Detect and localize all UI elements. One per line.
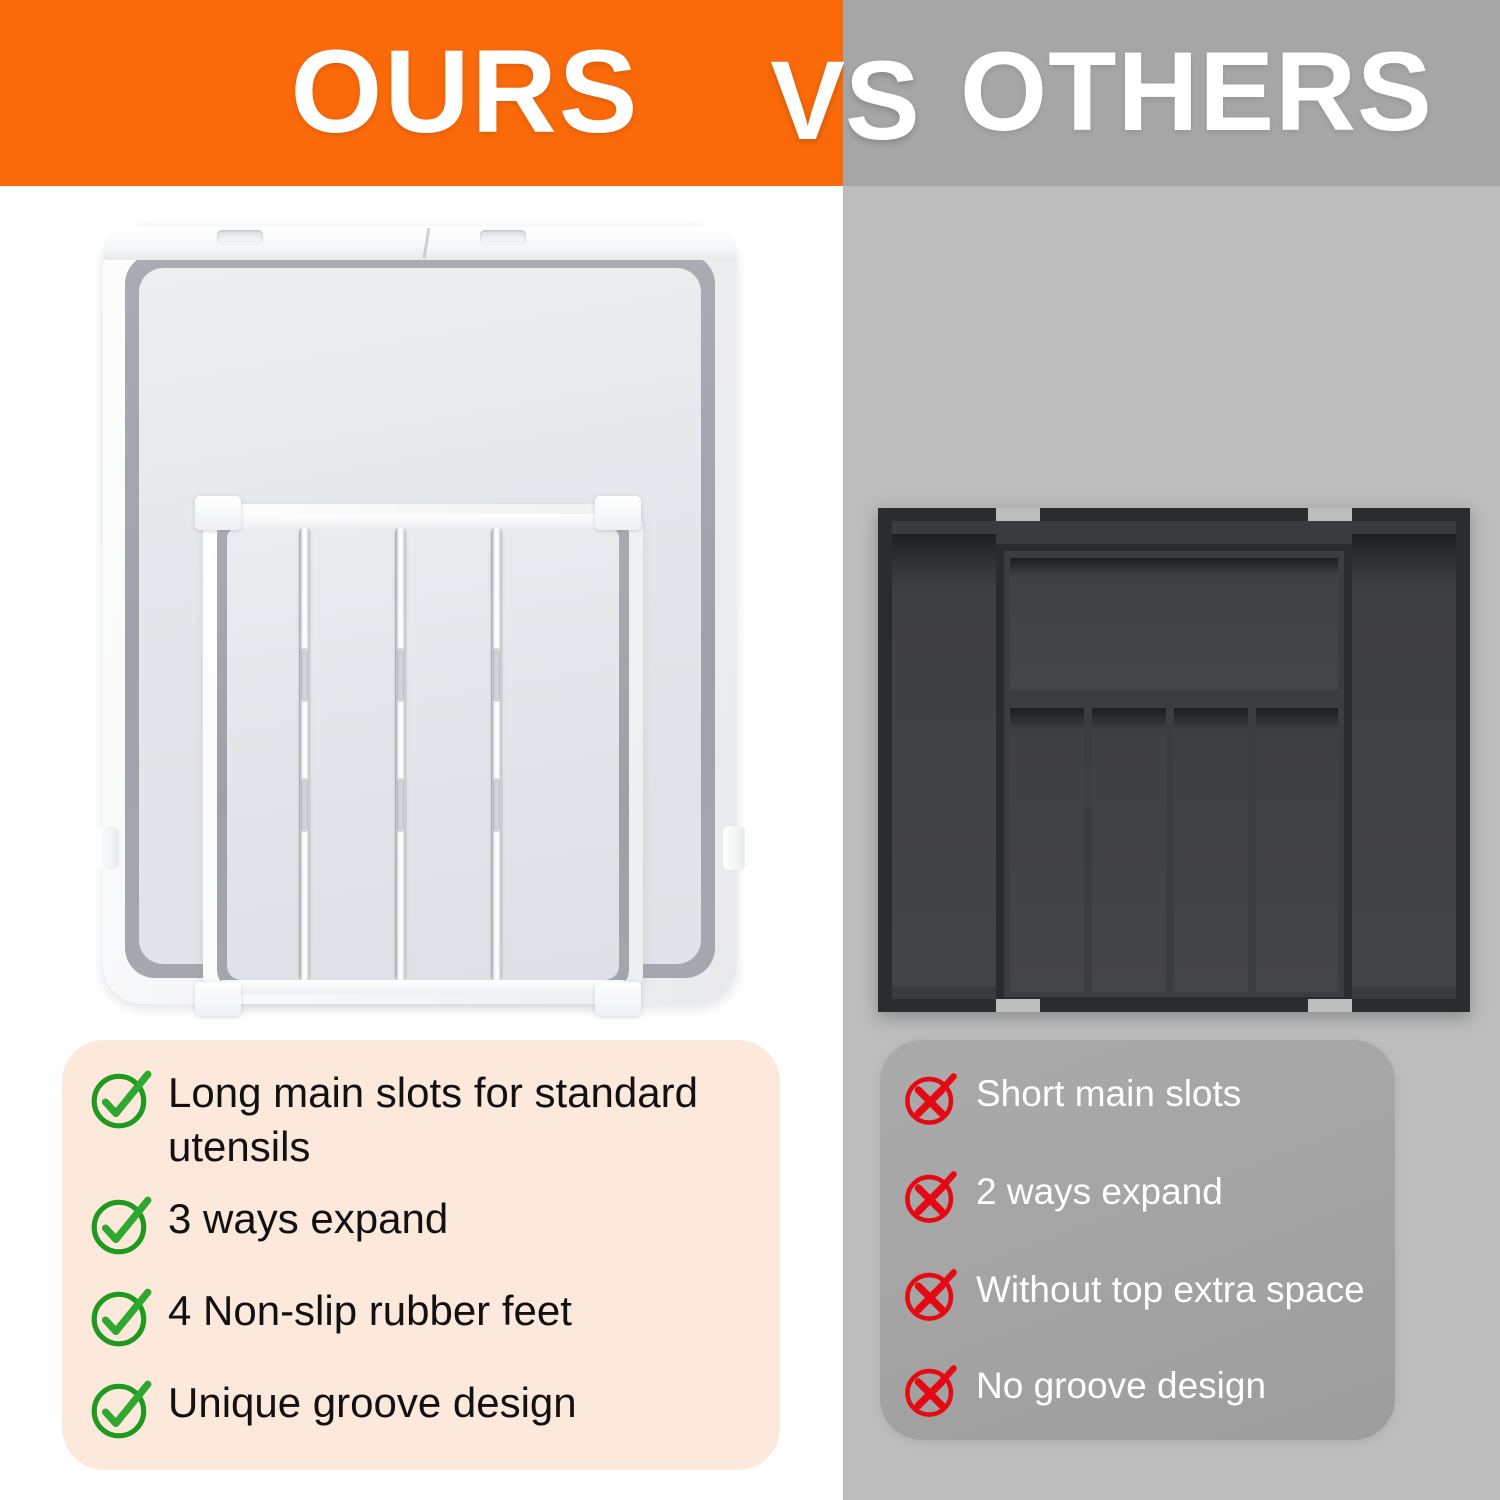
header-vs-label: VS [770, 26, 920, 176]
header-ours-title: OURS [255, 22, 675, 162]
black-slot-compartment [1256, 708, 1338, 992]
green-check-icon [88, 1284, 154, 1350]
inner-tray-bottom-rail [217, 980, 629, 994]
black-tray-notch [996, 508, 1040, 521]
others-feature-item: No groove design [902, 1362, 1382, 1420]
ours-feature-label: Long main slots for standard utensils [154, 1066, 764, 1174]
ours-feature-item: 3 ways expand [88, 1192, 764, 1258]
divider-groove-dimple [301, 778, 308, 832]
organizer-connector-tab [595, 496, 641, 530]
ours-feature-card: Long main slots for standard utensils 3 … [62, 1040, 780, 1470]
organizer-connector-tab [195, 982, 241, 1016]
red-cross-icon [902, 1362, 960, 1420]
red-cross-icon [902, 1266, 960, 1324]
black-drawer-organizer-image [878, 508, 1470, 1012]
organizer-inner-slide-tray [203, 504, 643, 1004]
inner-tray-divider-wall [395, 528, 406, 980]
inner-tray-divider-wall [299, 528, 310, 980]
black-slot-compartment [1092, 708, 1166, 992]
divider-groove-dimple [493, 778, 500, 832]
black-slot-compartment [1174, 708, 1248, 992]
black-top-compartment [1010, 558, 1338, 690]
black-right-side-well [1352, 534, 1456, 986]
divider-groove-dimple [301, 648, 308, 702]
header-others-title: OTHERS [960, 22, 1420, 162]
organizer-side-foot [97, 826, 119, 870]
black-slot-compartment [1010, 708, 1084, 992]
red-cross-icon [902, 1070, 960, 1128]
organizer-groove-notch [480, 230, 526, 245]
ours-feature-item: 4 Non-slip rubber feet [88, 1284, 764, 1350]
black-tray-notch [1308, 999, 1352, 1012]
others-feature-item: Without top extra space [902, 1266, 1382, 1324]
green-check-icon [88, 1192, 154, 1258]
others-feature-label: 2 ways expand [960, 1168, 1382, 1216]
ours-feature-item: Long main slots for standard utensils [88, 1066, 764, 1174]
black-inner-tray [996, 544, 1352, 1004]
inner-tray-divider-wall [491, 528, 502, 980]
others-feature-card: Short main slots 2 ways expand [880, 1040, 1395, 1440]
organizer-connector-tab [595, 982, 641, 1016]
organizer-groove-notch [217, 230, 263, 245]
inner-tray-floor [227, 528, 619, 980]
green-check-icon [88, 1066, 154, 1132]
black-tray-notch [1308, 508, 1352, 521]
inner-tray-top-rail [217, 514, 629, 528]
organizer-connector-tab [195, 496, 241, 530]
ours-feature-item: Unique groove design [88, 1376, 764, 1442]
divider-groove-dimple [397, 648, 404, 702]
ours-feature-label: 3 ways expand [154, 1192, 764, 1246]
divider-groove-dimple [397, 778, 404, 832]
others-feature-item: Short main slots [902, 1070, 1382, 1128]
black-left-side-well [892, 534, 996, 986]
others-feature-label: Short main slots [960, 1070, 1382, 1118]
others-feature-item: 2 ways expand [902, 1168, 1382, 1226]
divider-groove-dimple [493, 648, 500, 702]
header-banner: OURS VS OTHERS [0, 0, 1500, 186]
ours-feature-label: 4 Non-slip rubber feet [154, 1284, 764, 1338]
others-feature-label: Without top extra space [960, 1266, 1382, 1314]
red-cross-icon [902, 1168, 960, 1226]
green-check-icon [88, 1376, 154, 1442]
comparison-infographic: OURS VS OTHERS [0, 0, 1500, 1500]
ours-feature-label: Unique groove design [154, 1376, 764, 1430]
organizer-side-foot [723, 826, 745, 870]
others-feature-label: No groove design [960, 1362, 1382, 1410]
black-tray-notch [996, 999, 1040, 1012]
white-drawer-organizer-image [95, 212, 745, 1012]
organizer-top-rim [103, 226, 737, 260]
